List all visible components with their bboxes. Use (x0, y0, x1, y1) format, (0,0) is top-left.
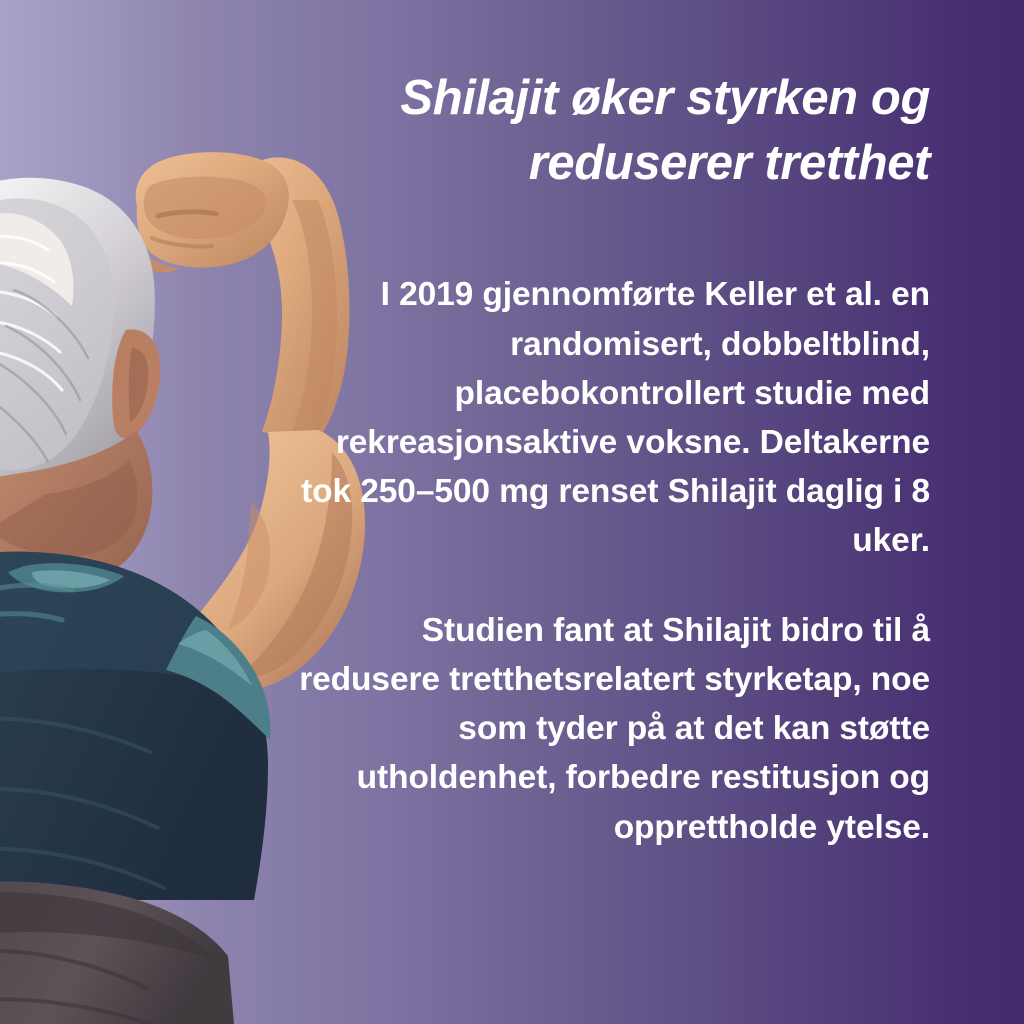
page-title: Shilajit øker styrken og reduserer trett… (285, 66, 930, 196)
poster-canvas: Shilajit øker styrken og reduserer trett… (0, 0, 1024, 1024)
fist-shape (136, 152, 289, 272)
pants-shape (0, 881, 234, 1024)
tshirt-shape (0, 552, 271, 900)
body-paragraph-2: Studien fant at Shilajit bidro til å red… (285, 606, 930, 852)
body-paragraph-1: I 2019 gjennomførte Keller et al. en ran… (285, 270, 930, 565)
neck-shape (0, 430, 152, 586)
text-column: Shilajit øker styrken og reduserer trett… (285, 66, 930, 852)
head-and-hair (0, 178, 160, 508)
body-text-block: I 2019 gjennomførte Keller et al. en ran… (285, 270, 930, 852)
